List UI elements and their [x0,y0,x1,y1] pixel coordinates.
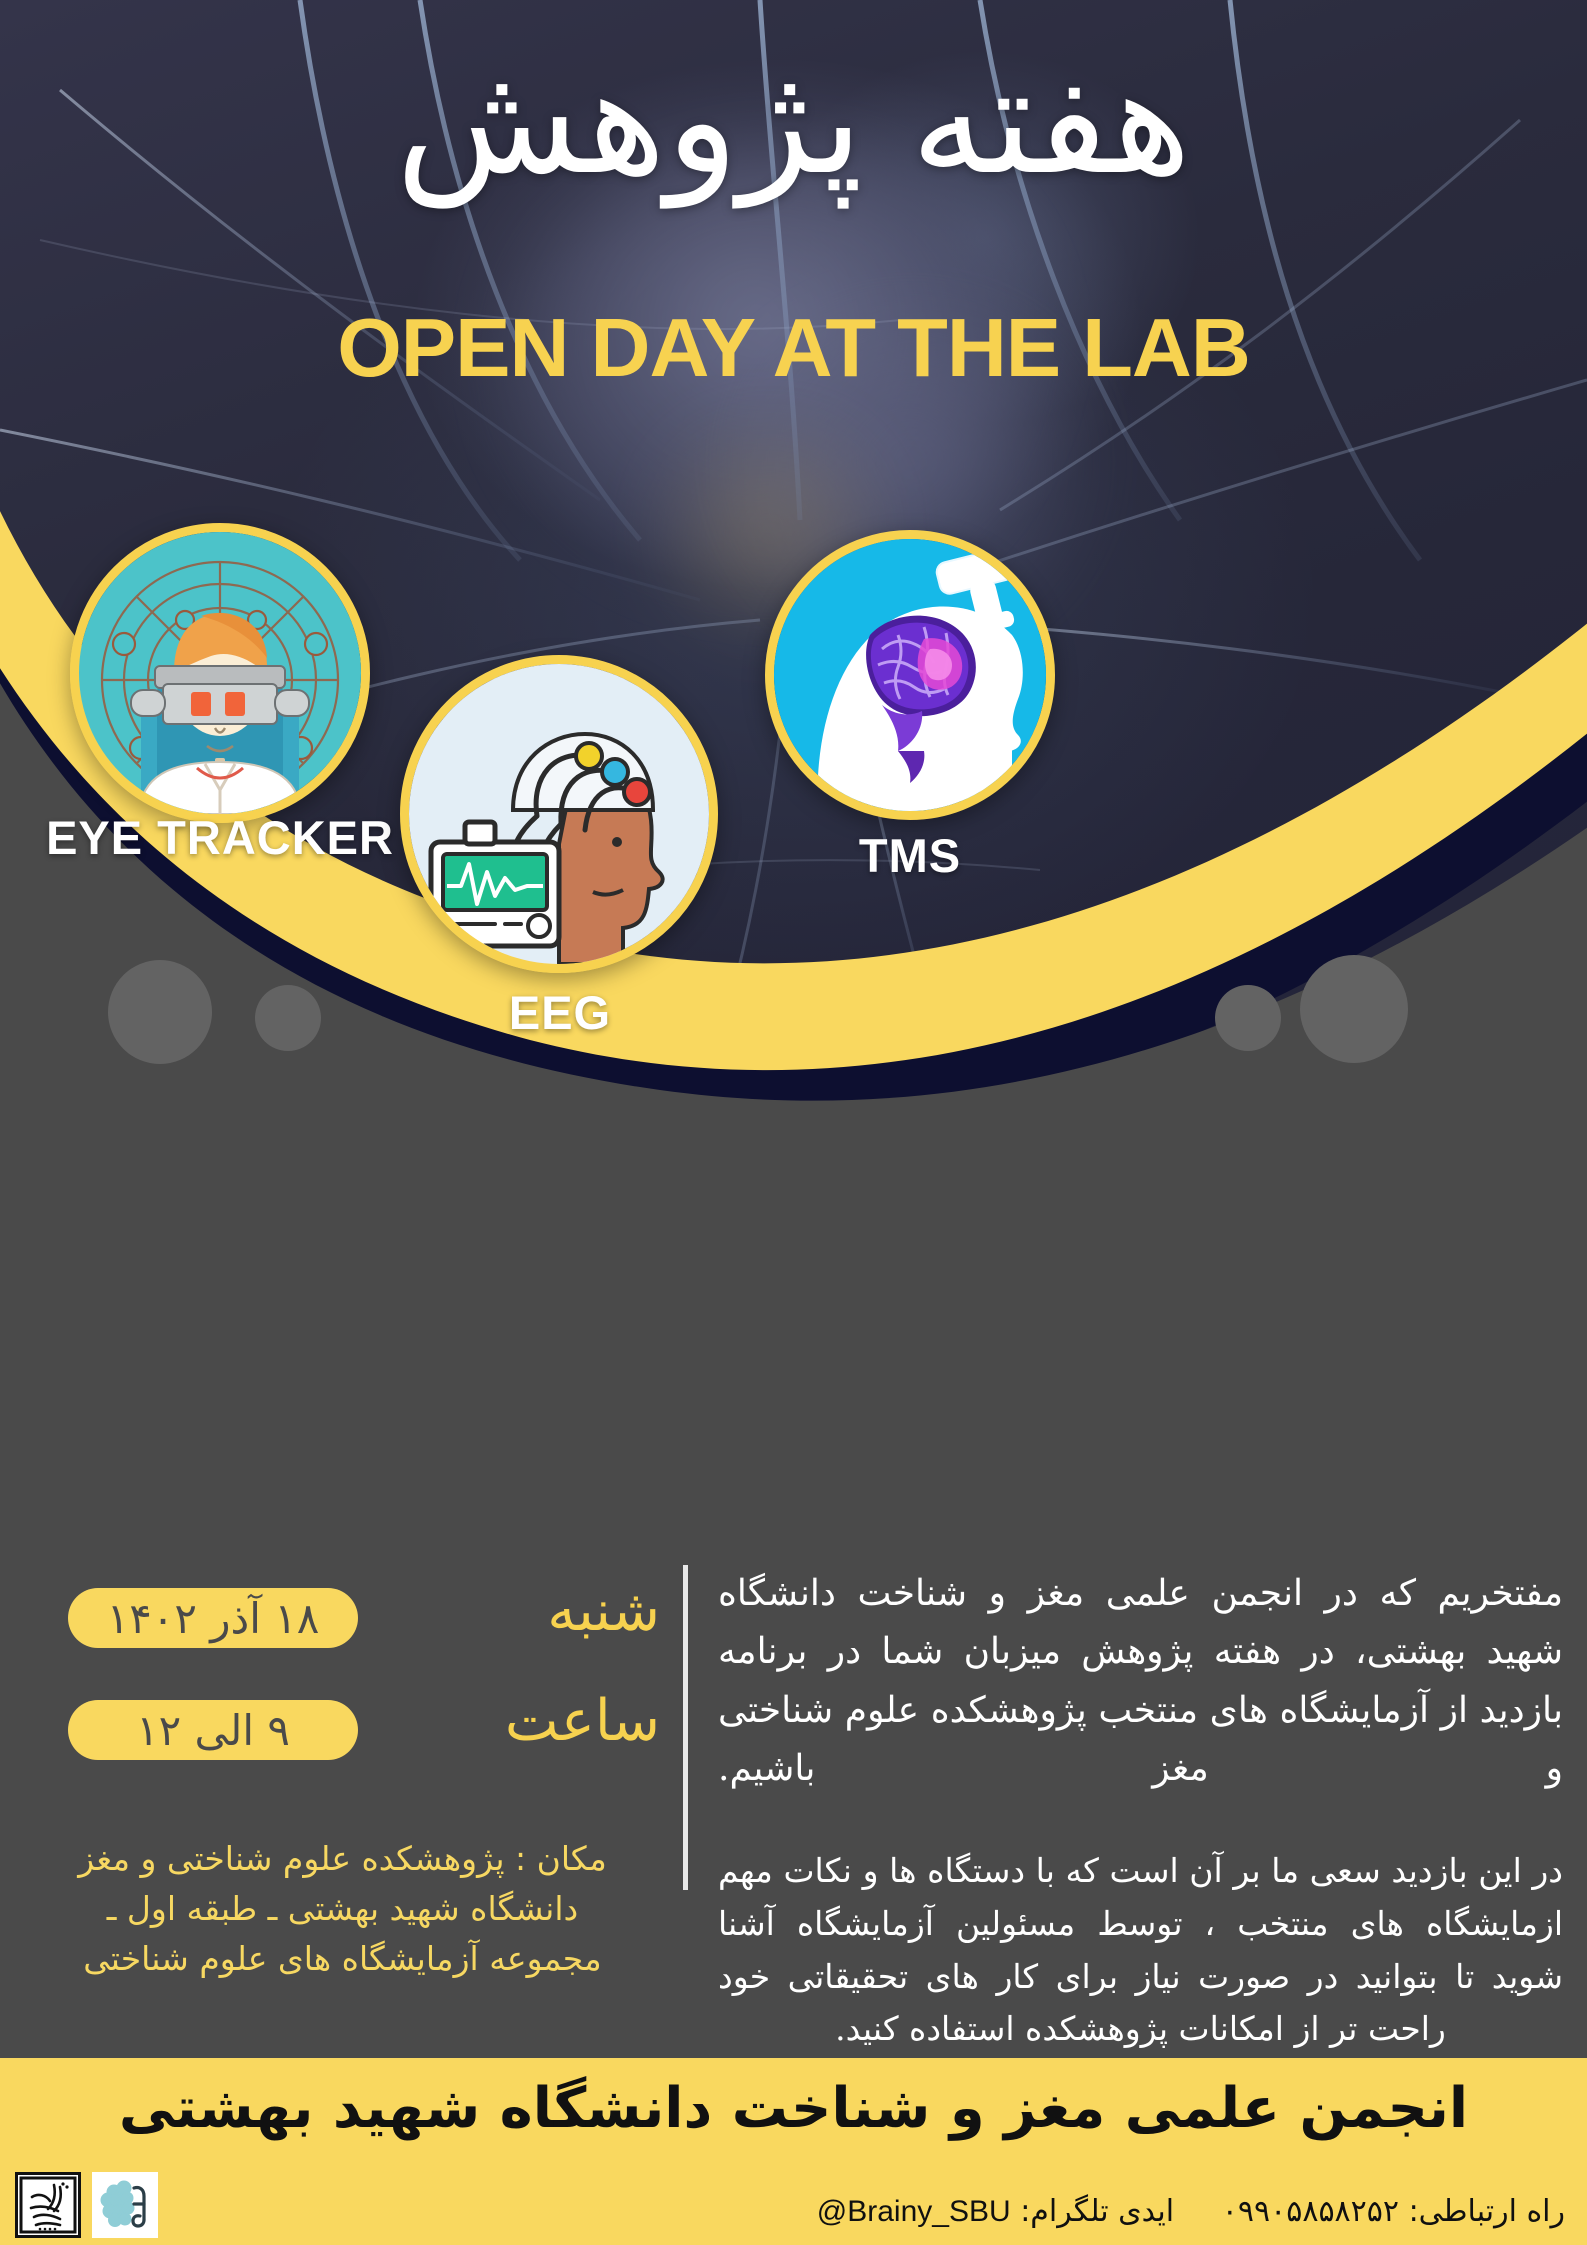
time-label: ساعت [340,1688,660,1754]
badge-label-eye-tracker: EYE TRACKER [0,810,440,865]
badge-label-eeg: EEG [360,985,760,1040]
logo-brain-club [92,2172,158,2238]
decorative-dot-4 [1215,985,1281,1051]
contact-prefix: راه ارتباطی: [1409,2194,1565,2229]
time-pill: ۹ الی ۱۲ [68,1700,358,1760]
day-label: شنبه [340,1578,660,1644]
poster-root: هفته پژوهش OPEN DAY AT THE LAB [0,0,1587,2245]
venue-text: مکان : پژوهشکده علوم شناختی و مغز دانشگا… [55,1834,630,1984]
badge-label-tms: TMS [760,828,1060,883]
details-paragraph: در این بازدید سعی ما بر آن است که با دست… [718,1845,1563,2056]
page-title-farsi: هفته پژوهش [0,28,1587,216]
telegram-label: ایدی تلگرام: [1020,2194,1174,2229]
decorative-dot-2 [255,985,321,1051]
logo-sbu [15,2172,81,2238]
tms-icon [774,539,1046,811]
page-title-english: OPEN DAY AT THE LAB [0,300,1587,396]
intro-paragraph: مفتخریم که در انجمن علمی مغز و شناخت دان… [718,1565,1563,1798]
contact-phone: ۰۹۹۰۵۸۵۸۲۵۲ [1222,2194,1399,2229]
contact-line: راه ارتباطی: ۰۹۹۰۵۸۵۸۲۵۲ ایدی تلگرام: @B… [817,2194,1565,2229]
brain-logo-icon [94,2174,156,2236]
telegram-handle[interactable]: @Brainy_SBU [817,2195,1011,2229]
badge-eeg[interactable] [400,655,718,973]
eeg-icon [409,664,709,964]
organization-name: انجمن علمی مغز و شناخت دانشگاه شهید بهشت… [0,2076,1587,2141]
eye-tracker-icon [79,532,361,814]
sbu-logo-icon [18,2175,78,2235]
decorative-dot-3 [1300,955,1408,1063]
decorative-dot-1 [108,960,212,1064]
badge-eye-tracker[interactable] [70,523,370,823]
date-pill: ۱۸ آذر ۱۴۰۲ [68,1588,358,1648]
badge-tms[interactable] [765,530,1055,820]
vertical-divider [683,1565,688,1890]
